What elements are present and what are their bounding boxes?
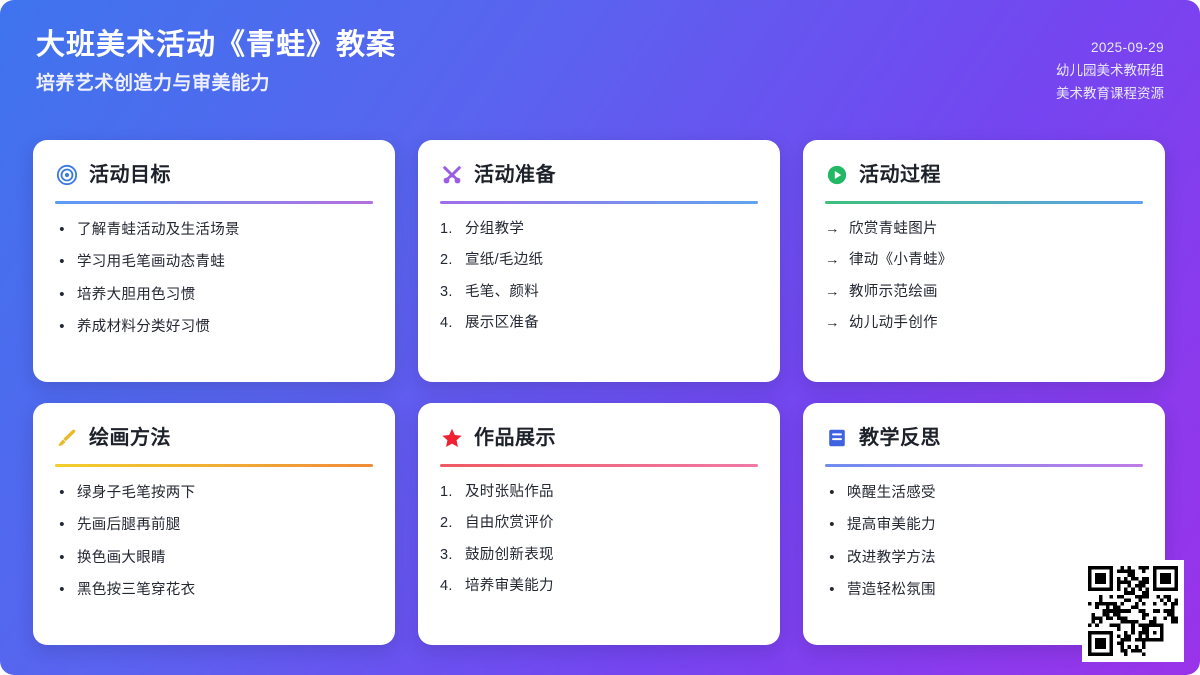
- list-marker: 3.: [440, 281, 457, 303]
- play-circle-icon: [825, 163, 849, 187]
- list-marker: •: [55, 546, 69, 569]
- card-title: 活动目标: [89, 165, 171, 185]
- tools-icon: [440, 163, 464, 187]
- list-marker: •: [825, 481, 839, 504]
- book-icon: [825, 426, 849, 450]
- list-item: •绿身子毛笔按两下: [55, 481, 373, 504]
- card-header: 活动过程: [825, 160, 1143, 190]
- list-item: •提高审美能力: [825, 513, 1143, 536]
- card-title: 作品展示: [474, 428, 556, 448]
- list-item-text: 分组教学: [465, 218, 524, 240]
- paintbrush-icon: [55, 426, 79, 450]
- card-title: 活动过程: [859, 165, 941, 185]
- content-card: 活动准备1.分组教学2.宣纸/毛边纸3.毛笔、颜料4.展示区准备: [418, 140, 780, 382]
- slide-root: 大班美术活动《青蛙》教案 培养艺术创造力与审美能力 2025-09-29 幼儿园…: [0, 0, 1200, 675]
- list-item: →教师示范绘画: [825, 281, 1143, 303]
- list-item: •先画后腿再前腿: [55, 513, 373, 536]
- list-item-text: 宣纸/毛边纸: [465, 249, 543, 271]
- list-item: •换色画大眼睛: [55, 546, 373, 569]
- content-card: 绘画方法•绿身子毛笔按两下•先画后腿再前腿•换色画大眼睛•黑色按三笔穿花衣: [33, 403, 395, 645]
- list-marker: 4.: [440, 312, 457, 334]
- qr-code-container[interactable]: [1082, 560, 1184, 662]
- list-marker: •: [825, 513, 839, 536]
- card-divider: [55, 201, 373, 204]
- list-item-text: 展示区准备: [465, 312, 539, 334]
- list-item-text: 换色画大眼睛: [77, 547, 166, 569]
- card-divider: [440, 201, 758, 204]
- list-item-text: 了解青蛙活动及生活场景: [77, 219, 240, 241]
- card-divider: [55, 464, 373, 467]
- list-item: 2.宣纸/毛边纸: [440, 249, 758, 271]
- meta-source: 美术教育课程资源: [1056, 82, 1164, 105]
- content-card: 活动过程→欣赏青蛙图片→律动《小青蛙》→教师示范绘画→幼儿动手创作: [803, 140, 1165, 382]
- list-item: •唤醒生活感受: [825, 481, 1143, 504]
- list-marker: •: [55, 250, 69, 273]
- list-item-text: 毛笔、颜料: [465, 281, 539, 303]
- list-item-text: 欣赏青蛙图片: [849, 218, 938, 240]
- card-title: 绘画方法: [89, 428, 171, 448]
- list-marker: 1.: [440, 481, 457, 503]
- card-title: 教学反思: [859, 428, 941, 448]
- card-divider: [825, 201, 1143, 204]
- card-list: •绿身子毛笔按两下•先画后腿再前腿•换色画大眼睛•黑色按三笔穿花衣: [55, 481, 373, 611]
- page-subtitle: 培养艺术创造力与审美能力: [36, 69, 396, 99]
- card-list: →欣赏青蛙图片→律动《小青蛙》→教师示范绘画→幼儿动手创作: [825, 218, 1143, 344]
- content-card: 作品展示1.及时张贴作品2.自由欣赏评价3.鼓励创新表现4.培养审美能力: [418, 403, 780, 645]
- list-marker: →: [825, 281, 841, 303]
- list-marker: •: [55, 513, 69, 536]
- list-item: •养成材料分类好习惯: [55, 315, 373, 338]
- star-icon: [440, 426, 464, 450]
- list-item-text: 律动《小青蛙》: [849, 249, 953, 271]
- list-marker: 4.: [440, 575, 457, 597]
- list-item-text: 唤醒生活感受: [847, 482, 936, 504]
- slide-header: 大班美术活动《青蛙》教案 培养艺术创造力与审美能力 2025-09-29 幼儿园…: [0, 0, 1200, 130]
- card-header: 作品展示: [440, 423, 758, 453]
- list-item-text: 幼儿动手创作: [849, 312, 938, 334]
- list-item: •学习用毛笔画动态青蛙: [55, 250, 373, 273]
- list-item-text: 提高审美能力: [847, 514, 936, 536]
- list-item-text: 学习用毛笔画动态青蛙: [77, 251, 225, 273]
- list-item-text: 及时张贴作品: [465, 481, 554, 503]
- list-item: →欣赏青蛙图片: [825, 218, 1143, 240]
- list-item: 1.分组教学: [440, 218, 758, 240]
- list-item: →幼儿动手创作: [825, 312, 1143, 334]
- list-marker: →: [825, 249, 841, 271]
- card-header: 活动准备: [440, 160, 758, 190]
- list-marker: 1.: [440, 218, 457, 240]
- list-item: 4.培养审美能力: [440, 575, 758, 597]
- list-item-text: 自由欣赏评价: [465, 512, 554, 534]
- card-header: 绘画方法: [55, 423, 373, 453]
- card-header: 活动目标: [55, 160, 373, 190]
- list-marker: 2.: [440, 512, 457, 534]
- meta-date: 2025-09-29: [1091, 36, 1164, 59]
- list-item: 1.及时张贴作品: [440, 481, 758, 503]
- list-marker: →: [825, 218, 841, 240]
- list-marker: 3.: [440, 544, 457, 566]
- list-item-text: 教师示范绘画: [849, 281, 938, 303]
- meta-org: 幼儿园美术教研组: [1056, 59, 1164, 82]
- card-title: 活动准备: [474, 165, 556, 185]
- list-item-text: 培养审美能力: [465, 575, 554, 597]
- list-item: •黑色按三笔穿花衣: [55, 578, 373, 601]
- list-marker: 2.: [440, 249, 457, 271]
- list-item: •了解青蛙活动及生活场景: [55, 218, 373, 241]
- list-item-text: 鼓励创新表现: [465, 544, 554, 566]
- list-item: 3.鼓励创新表现: [440, 544, 758, 566]
- page-title: 大班美术活动《青蛙》教案: [36, 26, 396, 65]
- content-card: 活动目标•了解青蛙活动及生活场景•学习用毛笔画动态青蛙•培养大胆用色习惯•养成材…: [33, 140, 395, 382]
- list-item-text: 绿身子毛笔按两下: [77, 482, 195, 504]
- list-marker: •: [825, 546, 839, 569]
- list-item: 2.自由欣赏评价: [440, 512, 758, 534]
- card-header: 教学反思: [825, 423, 1143, 453]
- list-item-text: 先画后腿再前腿: [77, 514, 181, 536]
- list-item-text: 培养大胆用色习惯: [77, 284, 195, 306]
- list-marker: →: [825, 312, 841, 334]
- card-divider: [440, 464, 758, 467]
- card-list: 1.及时张贴作品2.自由欣赏评价3.鼓励创新表现4.培养审美能力: [440, 481, 758, 607]
- list-item: →律动《小青蛙》: [825, 249, 1143, 271]
- target-icon: [55, 163, 79, 187]
- card-list: •了解青蛙活动及生活场景•学习用毛笔画动态青蛙•培养大胆用色习惯•养成材料分类好…: [55, 218, 373, 348]
- qr-code: [1088, 566, 1178, 656]
- list-item: 4.展示区准备: [440, 312, 758, 334]
- header-title-block: 大班美术活动《青蛙》教案 培养艺术创造力与审美能力: [36, 26, 396, 100]
- list-item-text: 改进教学方法: [847, 547, 936, 569]
- list-marker: •: [55, 481, 69, 504]
- list-marker: •: [55, 283, 69, 306]
- list-item: •培养大胆用色习惯: [55, 283, 373, 306]
- list-marker: •: [55, 218, 69, 241]
- list-marker: •: [55, 578, 69, 601]
- list-marker: •: [55, 315, 69, 338]
- card-grid: 活动目标•了解青蛙活动及生活场景•学习用毛笔画动态青蛙•培养大胆用色习惯•养成材…: [33, 140, 1167, 645]
- list-item-text: 营造轻松氛围: [847, 579, 936, 601]
- header-meta-block: 2025-09-29 幼儿园美术教研组 美术教育课程资源: [1056, 26, 1164, 106]
- list-item: 3.毛笔、颜料: [440, 281, 758, 303]
- card-list: 1.分组教学2.宣纸/毛边纸3.毛笔、颜料4.展示区准备: [440, 218, 758, 344]
- list-item-text: 养成材料分类好习惯: [77, 316, 210, 338]
- card-divider: [825, 464, 1143, 467]
- list-marker: •: [825, 578, 839, 601]
- list-item-text: 黑色按三笔穿花衣: [77, 579, 195, 601]
